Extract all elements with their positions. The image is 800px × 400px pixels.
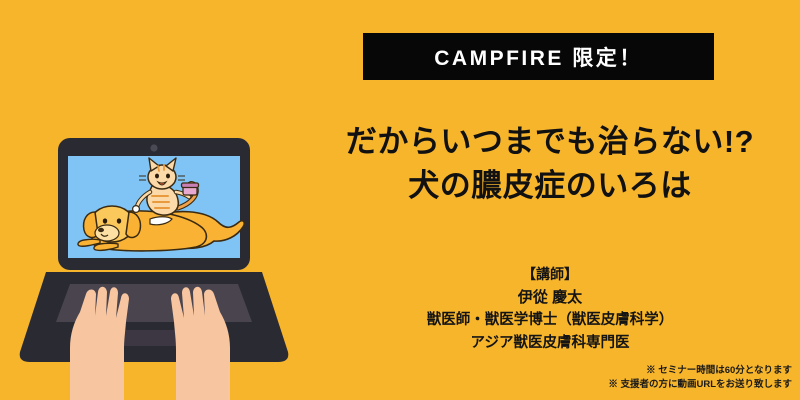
badge-label: CAMPFIRE 限定！ (434, 42, 643, 72)
footnote-video-url: ※ 支援者の方に動画URLをお送り致します (532, 378, 792, 392)
title-line-2: 犬の膿皮症のいろは (300, 164, 800, 208)
footnote-duration: ※ セミナー時間は60分となります (532, 364, 792, 378)
credits-heading: 【講師】 (300, 263, 800, 286)
instructor-name: 伊從 慶太 (300, 286, 800, 309)
instructor-credits: 【講師】 伊從 慶太 獣医師・獣医学博士（獣医皮膚科学） アジア獣医皮膚科専門医 (300, 263, 800, 355)
page-title: だからいつまでも治らない!? 犬の膿皮症のいろは (300, 120, 800, 208)
content-column: CAMPFIRE 限定！ だからいつまでも治らない!? 犬の膿皮症のいろは 【講… (300, 0, 800, 400)
ointment-jar-icon (182, 183, 199, 195)
instructor-specialty: アジア獣医皮膚科専門医 (300, 332, 800, 355)
laptop-illustration (0, 0, 300, 400)
title-line-1: だからいつまでも治らない!? (300, 120, 800, 164)
seminar-poster: CAMPFIRE 限定！ だからいつまでも治らない!? 犬の膿皮症のいろは 【講… (0, 0, 800, 400)
footnotes: ※ セミナー時間は60分となります ※ 支援者の方に動画URLをお送り致します (532, 364, 792, 392)
instructor-qualification: 獣医師・獣医学博士（獣医皮膚科学） (300, 309, 800, 332)
webcam-icon (150, 144, 157, 151)
laptop-illustration-svg (0, 0, 300, 400)
campfire-exclusive-badge: CAMPFIRE 限定！ (363, 33, 714, 80)
